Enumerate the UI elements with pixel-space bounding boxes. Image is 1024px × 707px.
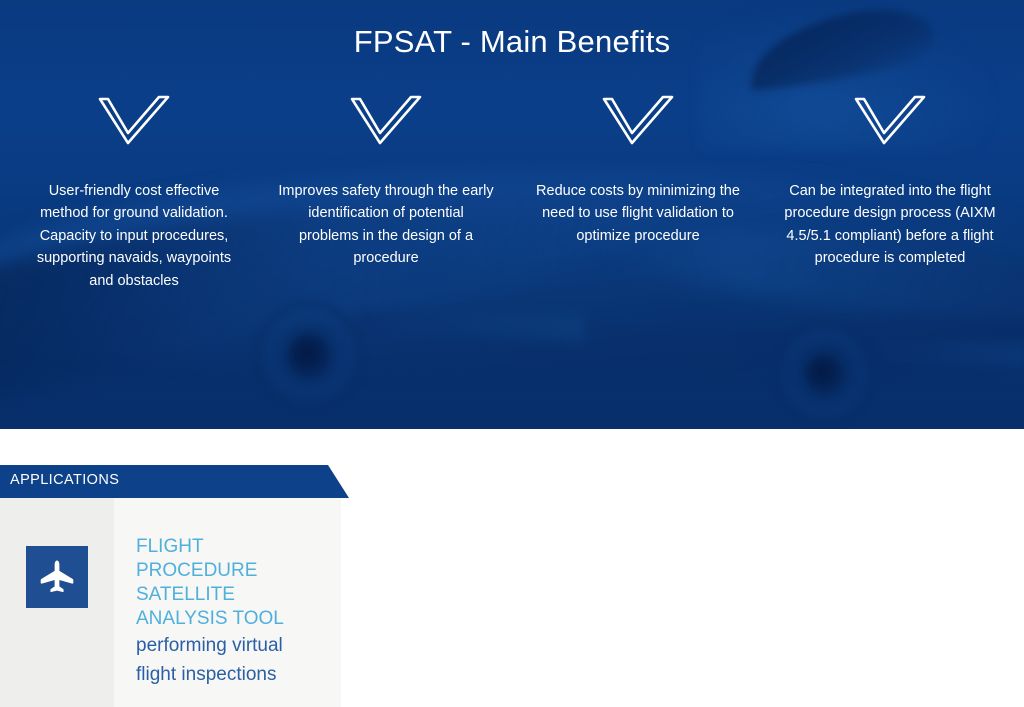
check-icon (530, 94, 746, 154)
benefit-item: Can be integrated into the flight proced… (764, 94, 1016, 292)
applications-banner: APPLICATIONS (0, 465, 349, 498)
benefit-text: Can be integrated into the flight proced… (782, 180, 998, 270)
check-icon (782, 94, 998, 154)
application-card[interactable]: FLIGHT PROCEDURE SATELLITE ANALYSIS TOOL… (0, 498, 341, 707)
benefit-text: Improves safety through the early identi… (278, 180, 494, 270)
hero-banner: FPSAT - Main Benefits User-friendly cost… (0, 0, 1024, 429)
applications-section: APPLICATIONS FLIGHT PROCEDURE SATELLITE … (0, 429, 1024, 707)
benefit-text: Reduce costs by minimizing the need to u… (530, 180, 746, 247)
page-title: FPSAT - Main Benefits (0, 0, 1024, 60)
benefit-item: Reduce costs by minimizing the need to u… (512, 94, 764, 292)
benefit-text: User-friendly cost effective method for … (26, 180, 242, 292)
benefit-item: Improves safety through the early identi… (260, 94, 512, 292)
airplane-icon (26, 546, 88, 608)
application-title: FLIGHT PROCEDURE SATELLITE ANALYSIS TOOL (136, 535, 325, 631)
applications-banner-label: APPLICATIONS (10, 472, 119, 488)
application-card-body: FLIGHT PROCEDURE SATELLITE ANALYSIS TOOL… (114, 498, 341, 707)
check-icon (278, 94, 494, 154)
benefit-item: User-friendly cost effective method for … (8, 94, 260, 292)
application-icon-panel (0, 498, 114, 707)
check-icon (26, 94, 242, 154)
application-subtitle: performing virtual flight inspections (136, 631, 325, 690)
benefits-list: User-friendly cost effective method for … (0, 94, 1024, 292)
